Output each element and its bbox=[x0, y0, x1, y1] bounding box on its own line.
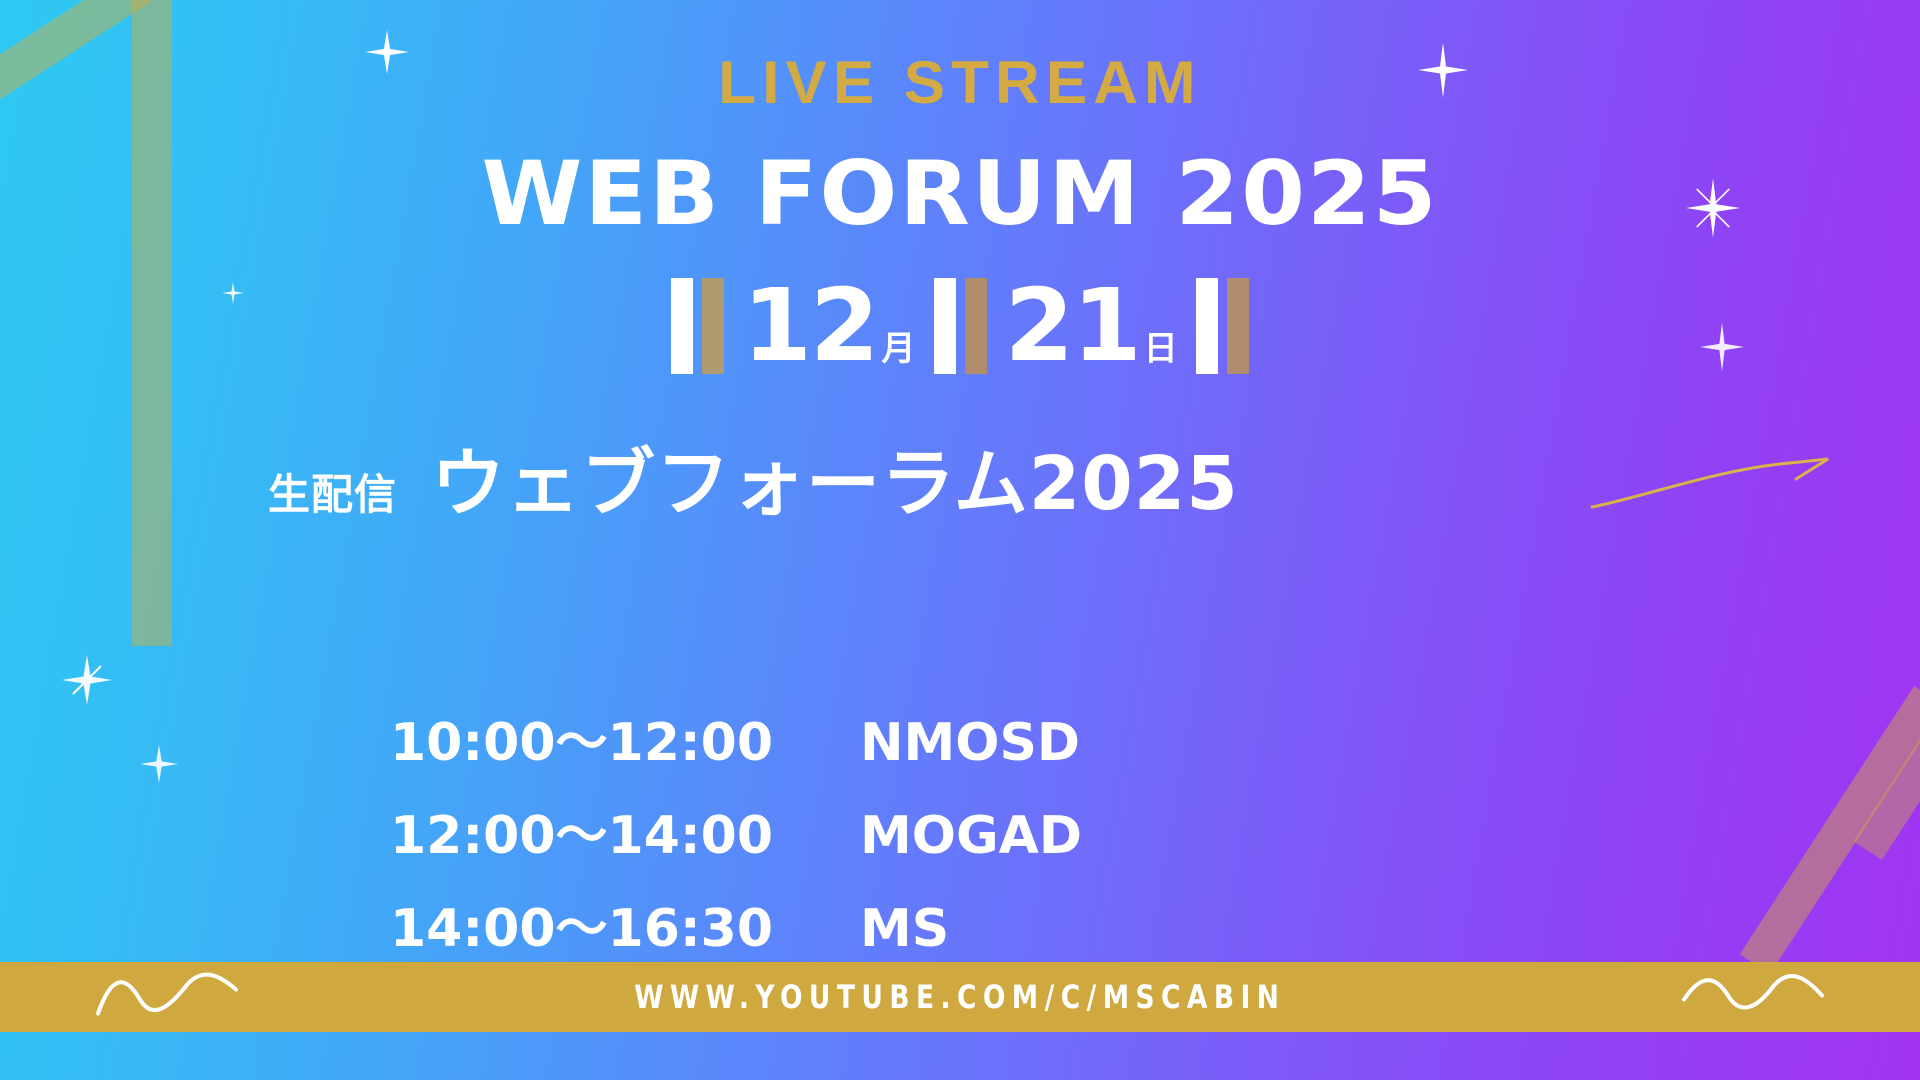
schedule-list: 10:00～12:00 NMOSD 12:00～14:00 MOGAD 14:0… bbox=[390, 700, 1082, 979]
event-month-number: 12 bbox=[742, 276, 877, 376]
event-day-unit: 日 bbox=[1144, 321, 1178, 376]
schedule-topic: NMOSD bbox=[860, 713, 1080, 773]
subtitle-row: 生配信 ウェブフォーラム2025 bbox=[268, 424, 1239, 531]
page-title: WEB FORUM 2025 bbox=[0, 150, 1920, 238]
live-badge-japanese: 生配信 bbox=[268, 461, 397, 522]
subtitle-japanese: ウェブフォーラム2025 bbox=[431, 424, 1239, 531]
schedule-time: 10:00～12:00 bbox=[390, 700, 860, 775]
list-item: 14:00～16:30 MS bbox=[390, 886, 1082, 961]
event-day-number: 21 bbox=[1005, 276, 1140, 376]
schedule-topic: MOGAD bbox=[860, 806, 1082, 866]
event-day-group: 21 日 bbox=[1005, 276, 1178, 376]
youtube-channel-url[interactable]: WWW.YOUTUBE.COM/C/MSCABIN bbox=[634, 978, 1285, 1016]
poster-canvas: LIVE STREAM WEB FORUM 2025 12 月 21 日 生配信 bbox=[0, 0, 1920, 1080]
decor-squiggle-right-icon bbox=[1678, 970, 1828, 1025]
decor-bar-pair-2 bbox=[934, 278, 987, 374]
list-item: 12:00～14:00 MOGAD bbox=[390, 793, 1082, 868]
event-date-row: 12 月 21 日 bbox=[0, 276, 1920, 376]
decor-squiggle-left-icon bbox=[92, 970, 242, 1025]
decor-bar-pair-1 bbox=[671, 278, 724, 374]
schedule-topic: MS bbox=[860, 899, 949, 959]
schedule-time: 12:00～14:00 bbox=[390, 793, 860, 868]
event-month-unit: 月 bbox=[882, 321, 916, 376]
decor-bar-pair-3 bbox=[1196, 278, 1249, 374]
list-item: 10:00～12:00 NMOSD bbox=[390, 700, 1082, 775]
event-month-group: 12 月 bbox=[742, 276, 915, 376]
schedule-time: 14:00～16:30 bbox=[390, 886, 860, 961]
footer-url-bar: WWW.YOUTUBE.COM/C/MSCABIN bbox=[0, 962, 1920, 1032]
live-stream-eyebrow: LIVE STREAM bbox=[0, 48, 1920, 117]
